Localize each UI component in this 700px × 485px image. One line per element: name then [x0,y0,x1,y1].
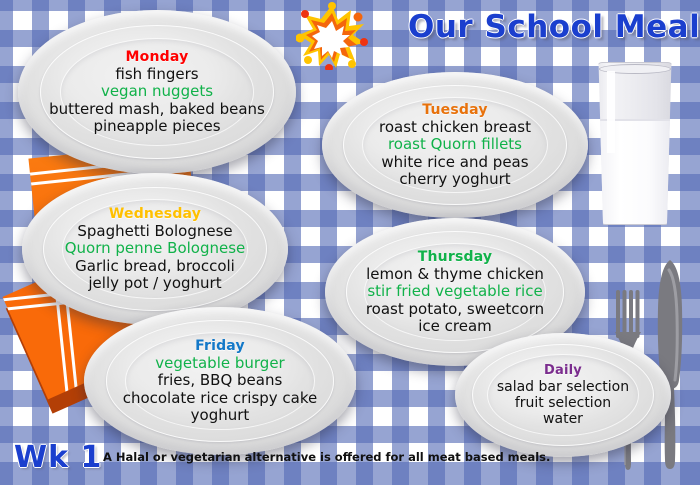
meal-item: roast Quorn fillets [327,136,582,153]
meal-item: chocolate rice crispy cake [89,390,350,407]
plate-friday: Friday vegetable burger fries, BBQ beans… [84,307,356,455]
footer-note: A Halal or vegetarian alternative is off… [103,450,550,464]
meal-item: lemon & thyme chicken [330,266,580,283]
school-meals-poster: Our School Meals Monday fish fingers veg… [0,0,700,485]
meal-item: white rice and peas [327,154,582,171]
meal-item: Quorn penne Bolognese [27,240,282,257]
week-badge: Wk 1 [14,440,102,475]
meal-item: fries, BBQ beans [89,372,350,389]
meal-item: Garlic bread, broccoli [27,258,282,275]
day-label-tuesday: Tuesday [327,102,582,118]
day-label-wednesday: Wednesday [27,206,282,222]
page-title: Our School Meals [408,9,700,45]
meal-item: roast potato, sweetcorn [330,301,580,318]
meal-item: pineapple pieces [24,118,291,135]
meal-item: fruit selection [459,395,666,411]
meal-item: yoghurt [89,407,350,424]
knife-icon [655,258,685,473]
plate-tuesday: Tuesday roast chicken breast roast Quorn… [322,72,588,218]
starburst-icon [296,2,368,70]
meal-item: vegetable burger [89,355,350,372]
meal-item: salad bar selection [459,379,666,395]
plate-daily: Daily salad bar selection fruit selectio… [455,333,671,457]
day-label-monday: Monday [24,49,291,65]
meal-item: ice cream [330,318,580,335]
meal-item: fish fingers [24,66,291,83]
day-label-thursday: Thursday [330,249,580,265]
plate-monday: Monday fish fingers vegan nuggets butter… [18,10,296,174]
meal-item: stir fried vegetable rice [330,283,580,300]
meal-item: jelly pot / yoghurt [27,275,282,292]
meal-item: Spaghetti Bolognese [27,223,282,240]
day-label-friday: Friday [89,338,350,354]
meal-item: cherry yoghurt [327,171,582,188]
meal-item: vegan nuggets [24,83,291,100]
meal-item: water [459,411,666,427]
plate-wednesday: Wednesday Spaghetti Bolognese Quorn penn… [22,173,288,325]
meal-item: roast chicken breast [327,119,582,136]
glass-of-water-icon [597,62,673,225]
meal-item: buttered mash, baked beans [24,101,291,118]
day-label-daily: Daily [459,363,666,378]
